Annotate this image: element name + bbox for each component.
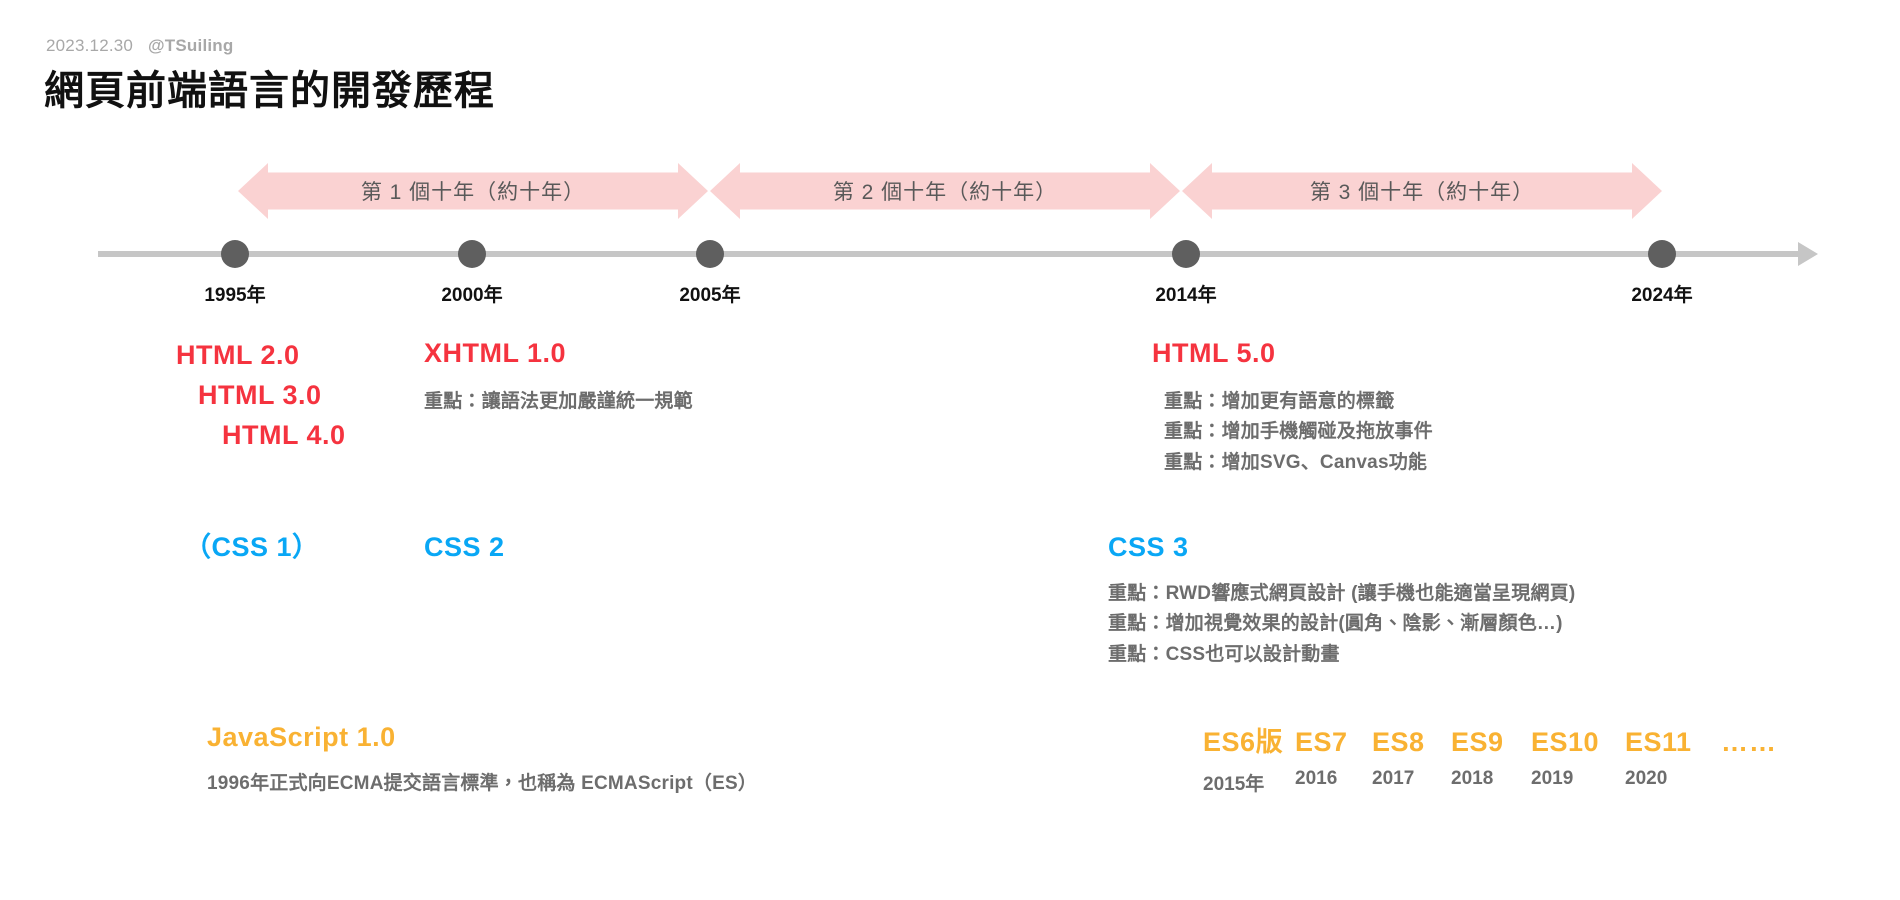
html-versions-early: HTML 2.0 HTML 3.0 HTML 4.0 — [176, 336, 346, 456]
es-version-name: ES11 — [1625, 727, 1721, 758]
html-version-3: HTML 3.0 — [176, 376, 346, 416]
decade-label: 第 3 個十年（約十年） — [1310, 176, 1534, 206]
javascript-title: JavaScript 1.0 — [207, 720, 757, 755]
timeline-dot-2005 — [696, 240, 724, 268]
html5-group: HTML 5.0 重點：增加更有語意的標籤 重點：增加手機觸碰及拖放事件 重點：… — [1152, 336, 1433, 479]
html-version-4: HTML 4.0 — [176, 416, 346, 456]
es-version-name: ES9 — [1451, 727, 1531, 758]
timeline-label-2000: 2000年 — [441, 280, 502, 307]
es-version-year: 2016 — [1295, 768, 1372, 790]
meta-line: 2023.12.30 @TSuiling — [46, 36, 233, 56]
decade-arrows: 第 1 個十年（約十年） 第 2 個十年（約十年） 第 3 個十年（約十年） — [0, 163, 1900, 219]
page-title: 網頁前端語言的開發歷程 — [44, 58, 495, 116]
xhtml-note-1: 重點：讓語法更加嚴謹統一規範 — [424, 387, 693, 418]
decade-arrow-3: 第 3 個十年（約十年） — [1182, 163, 1662, 219]
author-handle: @TSuiling — [148, 36, 233, 55]
decade-arrow-1: 第 1 個十年（約十年） — [238, 163, 708, 219]
css3-title: CSS 3 — [1108, 530, 1575, 565]
javascript-note: 1996年正式向ECMA提交語言標準，也稱為 ECMAScript（ES） — [207, 769, 757, 800]
xhtml-group: XHTML 1.0 重點：讓語法更加嚴謹統一規範 — [424, 336, 693, 417]
decade-arrow-2: 第 2 個十年（約十年） — [710, 163, 1180, 219]
javascript-group: JavaScript 1.0 1996年正式向ECMA提交語言標準，也稱為 EC… — [207, 720, 757, 799]
timeline-label-2014: 2014年 — [1155, 280, 1216, 307]
es-version-item: ES10 2019 — [1531, 727, 1625, 790]
timeline-dot-2014 — [1172, 240, 1200, 268]
es-version-year: 2017 — [1372, 768, 1451, 790]
post-date: 2023.12.30 — [46, 36, 133, 55]
es-version-name: ES6版 — [1203, 720, 1295, 759]
html5-title: HTML 5.0 — [1152, 336, 1433, 371]
es-version-year: 2015年 — [1203, 769, 1295, 796]
css3-note-2: 重點：增加視覺效果的設計(圓角、陰影、漸層顏色…) — [1108, 609, 1575, 640]
timeline-label-2005: 2005年 — [679, 280, 740, 307]
xhtml-title: XHTML 1.0 — [424, 336, 693, 371]
es-version-item: ES11 2020 — [1625, 727, 1721, 790]
timeline-dot-2024 — [1648, 240, 1676, 268]
es-version-year: 2020 — [1625, 768, 1721, 790]
es-version-item: ES7 2016 — [1295, 727, 1372, 790]
es-version-item: ES6版 2015年 — [1203, 720, 1295, 796]
timeline-axis — [98, 251, 1798, 257]
timeline-label-1995: 1995年 — [204, 280, 265, 307]
html5-note-1: 重點：增加更有語意的標籤 — [1152, 387, 1433, 418]
html-version-2: HTML 2.0 — [176, 336, 346, 376]
css3-note-1: 重點：RWD響應式網頁設計 (讓手機也能適當呈現網頁) — [1108, 579, 1575, 610]
html5-note-3: 重點：增加SVG、Canvas功能 — [1152, 448, 1433, 479]
es-versions-ellipsis: …… — [1721, 727, 1777, 758]
css2-title: CSS 2 — [424, 530, 505, 565]
css1-title: （CSS 1） — [184, 530, 320, 565]
timeline-dot-1995 — [221, 240, 249, 268]
css3-group: CSS 3 重點：RWD響應式網頁設計 (讓手機也能適當呈現網頁) 重點：增加視… — [1108, 530, 1575, 671]
es-versions-group: ES6版 2015年 ES7 2016 ES8 2017 ES9 2018 ES… — [1203, 720, 1777, 796]
es-version-year: 2019 — [1531, 768, 1625, 790]
timeline-dot-2000 — [458, 240, 486, 268]
decade-label: 第 2 個十年（約十年） — [833, 176, 1057, 206]
es-version-item: ES9 2018 — [1451, 727, 1531, 790]
es-version-name: ES7 — [1295, 727, 1372, 758]
es-version-item: ES8 2017 — [1372, 727, 1451, 790]
axis-arrow-icon — [1798, 242, 1818, 266]
css3-note-3: 重點：CSS也可以設計動畫 — [1108, 640, 1575, 671]
timeline-label-2024: 2024年 — [1631, 280, 1692, 307]
es-version-year: 2018 — [1451, 768, 1531, 790]
es-version-name: ES10 — [1531, 727, 1625, 758]
es-version-name: ES8 — [1372, 727, 1451, 758]
decade-label: 第 1 個十年（約十年） — [361, 176, 585, 206]
html5-note-2: 重點：增加手機觸碰及拖放事件 — [1152, 417, 1433, 448]
